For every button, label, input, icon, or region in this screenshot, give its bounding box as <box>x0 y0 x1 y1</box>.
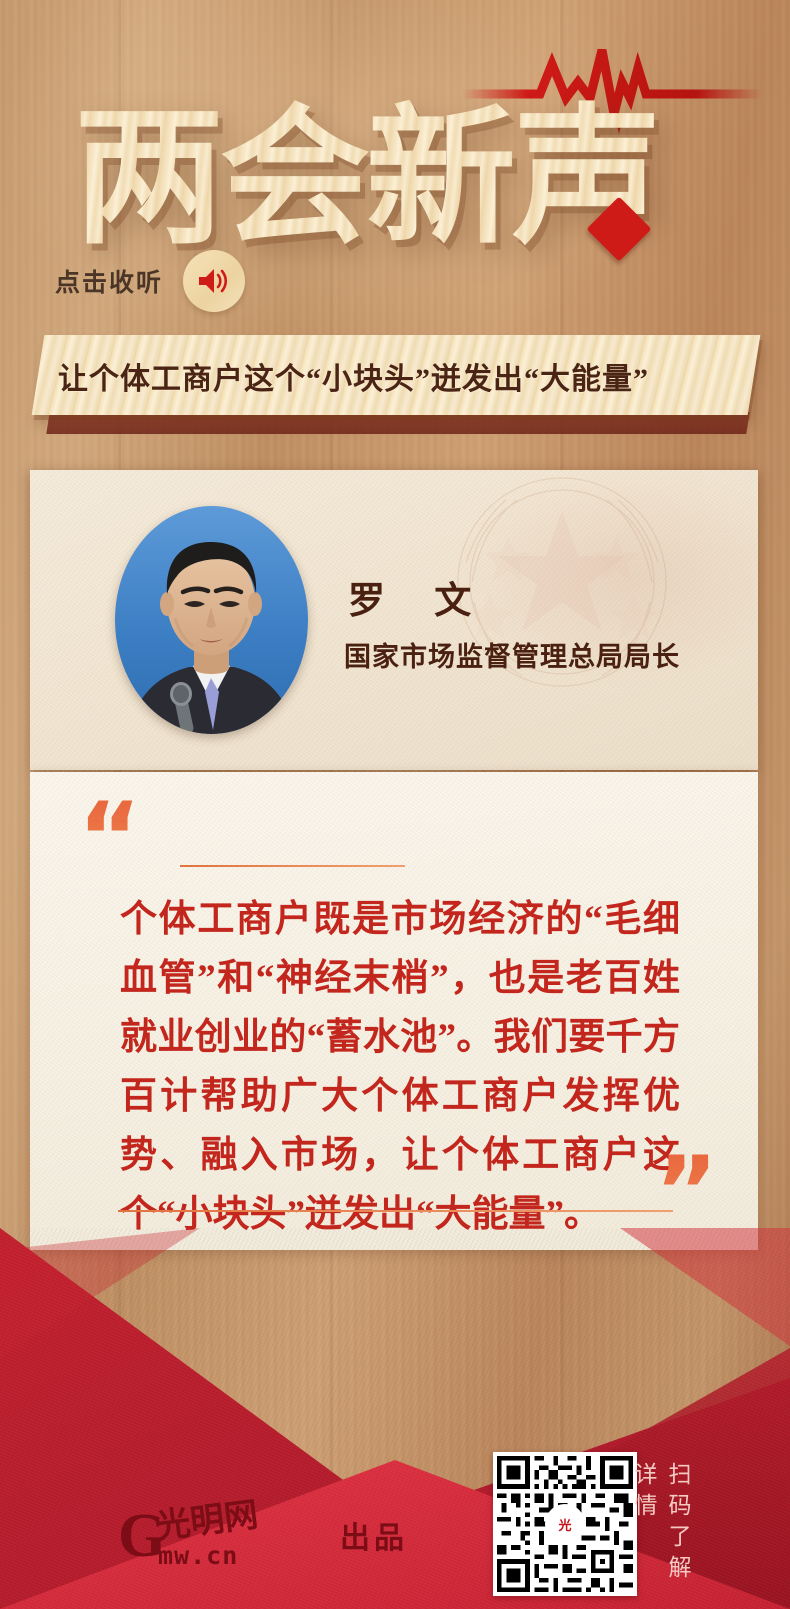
quote-divider-bottom <box>118 1210 673 1212</box>
scan-hint-text: 扫码了解详情 <box>660 1462 694 1609</box>
speaker-position: 国家市场监督管理总局局长 <box>344 635 680 674</box>
speaker-name: 罗 文 <box>348 570 491 624</box>
quote-close-mark: ” <box>655 1144 718 1240</box>
guangming-logo: G 光明网 mw.cn <box>118 1498 328 1566</box>
qr-center-logo: 光 <box>545 1504 585 1544</box>
banner-shadow-strip <box>46 412 749 434</box>
logo-domain: mw.cn <box>158 1541 238 1566</box>
quote-open-mark: “ <box>78 790 141 886</box>
listen-control[interactable]: 点击收听 <box>55 250 245 312</box>
poster-header: 两会新声 点击收听 让个体工商户这个“小块头”迸发出“大能量” <box>0 0 790 455</box>
listen-label: 点击收听 <box>55 263 163 299</box>
listen-button[interactable] <box>183 250 245 312</box>
produced-by-label: 出品 <box>340 1513 408 1557</box>
qr-center-logo-text: 光 <box>558 1515 571 1534</box>
headline-text: 让个体工商户这个“小块头”迸发出“大能量” <box>58 349 748 403</box>
quote-divider-top <box>180 865 405 867</box>
speaker-avatar <box>115 506 308 734</box>
quote-body: 个体工商户既是市场经济的“毛细血管”和“神经末梢”，也是老百姓就业创业的“蓄水池… <box>120 890 680 1244</box>
logo-brand-name: 光明网 <box>154 1498 260 1546</box>
speaker-volume-icon <box>197 266 231 296</box>
poster-root: 两会新声 点击收听 让个体工商户这个“小块头”迸发出“大能量” <box>0 0 790 1609</box>
qr-code[interactable]: 光 <box>493 1452 637 1596</box>
quote-card: “ 个体工商户既是市场经济的“毛细血管”和“神经末梢”，也是老百姓就业创业的“蓄… <box>30 772 758 1250</box>
speaker-card: 罗 文 国家市场监督管理总局局长 <box>30 470 758 770</box>
